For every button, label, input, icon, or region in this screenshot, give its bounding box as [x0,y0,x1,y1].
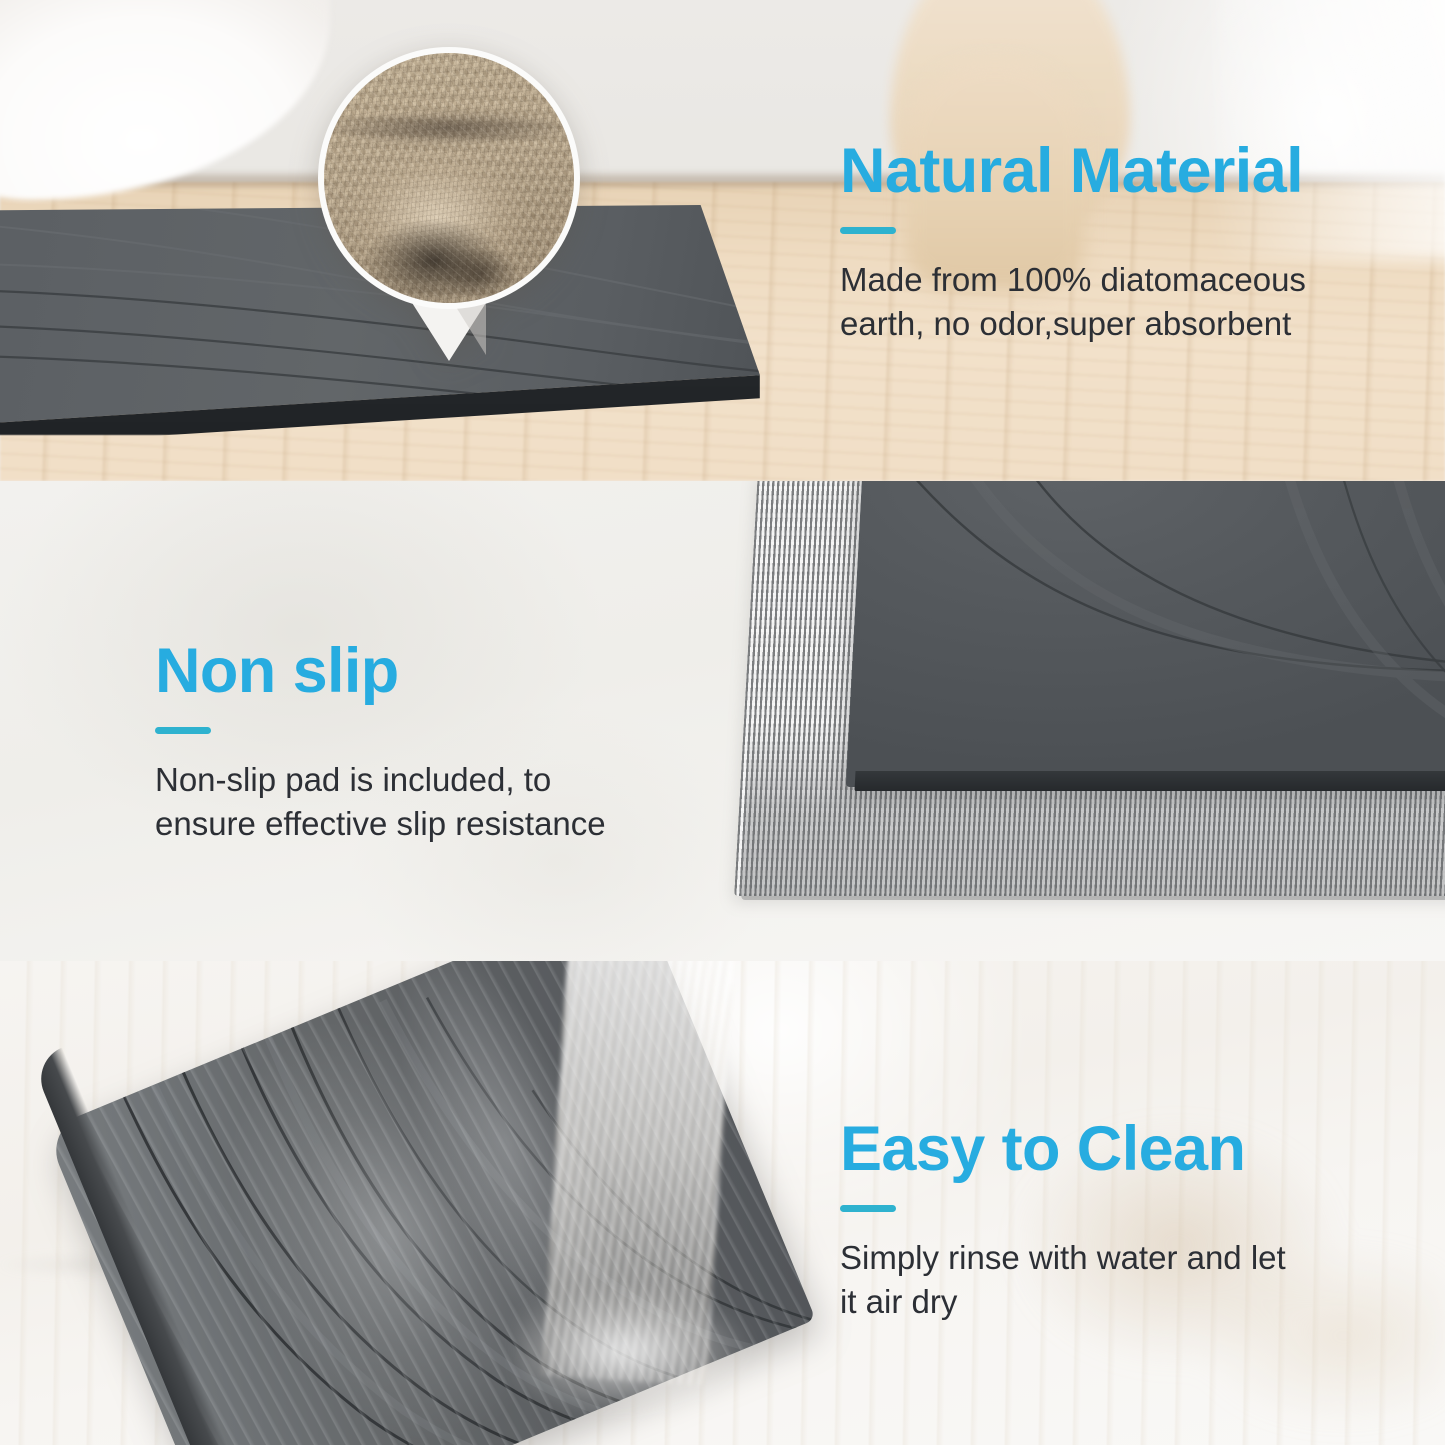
body-easy-to-clean: Simply rinse with water and let it air d… [840,1236,1286,1324]
body-natural-material: Made from 100% diatomaceous earth, no od… [840,258,1306,346]
heading-natural-material: Natural Material [840,140,1306,203]
accent-rule-easy-to-clean [840,1205,896,1212]
rock-texture-overlay [324,53,574,303]
accent-rule-natural-material [840,227,896,234]
heading-non-slip: Non slip [155,640,606,703]
water-splash-glow [520,1291,780,1441]
body-non-slip: Non-slip pad is included, to ensure effe… [155,758,606,846]
panel-non-slip: Non slip Non-slip pad is included, to en… [0,481,1445,961]
panel-easy-to-clean: Easy to Clean Simply rinse with water an… [0,961,1445,1445]
bath-mat-with-pad [700,481,1445,945]
diatomaceous-earth-photo [324,53,574,303]
accent-rule-non-slip [155,727,211,734]
bath-mat-panel2-edge [854,771,1445,791]
product-infographic: Natural Material Made from 100% diatomac… [0,0,1445,1445]
text-block-easy-to-clean: Easy to Clean Simply rinse with water an… [840,1118,1286,1324]
heading-easy-to-clean: Easy to Clean [840,1118,1286,1181]
magnifier-pin-inset [318,47,580,357]
text-block-non-slip: Non slip Non-slip pad is included, to en… [155,640,606,846]
panel-natural-material: Natural Material Made from 100% diatomac… [0,0,1445,481]
bath-mat-panel2 [846,481,1445,787]
text-block-natural-material: Natural Material Made from 100% diatomac… [840,140,1306,346]
